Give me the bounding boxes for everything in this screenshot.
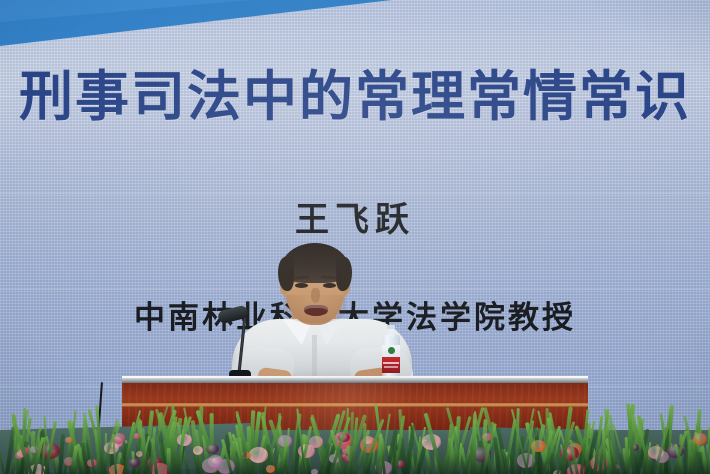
flower-bloom [193,446,203,454]
flower-bloom [693,433,707,445]
flower-bloom [266,465,275,472]
flower-bloom [311,469,319,474]
speaker-nose [311,288,320,303]
speaker-hair-side-left [278,257,294,291]
flower-bloom [249,447,268,463]
bottle-neck [388,328,394,337]
bottle-label-text-line [383,362,399,364]
grass-blade-foreground [167,448,171,474]
grass-blade-foreground [473,419,476,474]
speaker-eye-left [295,283,308,288]
slide-speaker-name: 王飞跃 [0,203,710,237]
bottle-cap [387,325,395,329]
panel-seam [0,193,710,194]
slide-corner-decoration-inner [0,0,250,22]
bottle-label [382,357,400,373]
speaker-eye-right [323,283,336,288]
speaker-figure [236,243,406,378]
grass-blade [0,409,5,474]
slide-title: 刑事司法中的常理常情常识 [0,70,710,124]
floral-arrangement [0,402,710,474]
water-bottle [382,325,400,378]
flower-bloom [206,444,219,454]
bottle-brand-icon [388,347,395,354]
speaker-mouth [304,305,328,316]
flower-bloom [129,458,140,467]
flower-bloom [309,436,323,447]
desk-top-highlight [122,376,588,378]
flower-bloom [208,455,224,468]
bottle-label-text-line [384,366,398,368]
lecture-photograph: 刑事司法中的常理常情常识 王飞跃 中南林业科技大学法学院教授 [0,0,710,474]
